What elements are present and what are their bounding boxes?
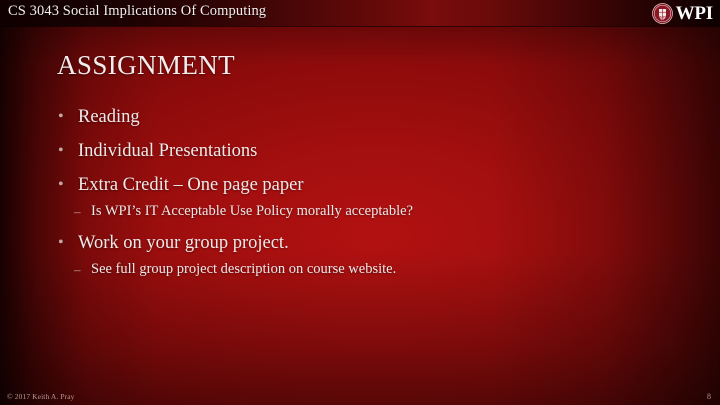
wpi-wordmark: WPI	[676, 4, 713, 23]
copyright-notice: © 2017 Keith A. Pray	[7, 392, 75, 401]
bullet-dot-icon: •	[55, 230, 78, 256]
wpi-logo: WPI WPI	[652, 1, 713, 25]
svg-text:WPI: WPI	[658, 15, 666, 19]
slide-body: • Reading • Individual Presentations • E…	[55, 104, 655, 288]
presentation-slide: CS 3043 Social Implications Of Computing…	[0, 0, 720, 405]
bullet-dot-icon: •	[55, 138, 78, 164]
list-item: • Reading	[55, 104, 655, 130]
list-item: • Work on your group project.	[55, 230, 655, 256]
sub-bullet-dash-icon: –	[74, 259, 91, 280]
slide-header-band: CS 3043 Social Implications Of Computing…	[0, 0, 720, 26]
sub-list-item-label: Is WPI’s IT Acceptable Use Policy morall…	[91, 201, 413, 222]
slide-page-number: 8	[707, 392, 711, 401]
bullet-dot-icon: •	[55, 172, 78, 198]
course-title: CS 3043 Social Implications Of Computing	[8, 3, 266, 20]
bullet-dot-icon: •	[55, 104, 78, 130]
page-title: ASSIGNMENT	[57, 50, 235, 80]
wpi-seal-icon: WPI	[652, 3, 673, 24]
bullet-group: • Extra Credit – One page paper – Is WPI…	[55, 172, 655, 222]
bullet-group: • Individual Presentations	[55, 138, 655, 164]
bullet-group: • Reading	[55, 104, 655, 130]
list-item-label: Work on your group project.	[78, 230, 289, 256]
list-item-label: Individual Presentations	[78, 138, 257, 164]
sub-bullet-dash-icon: –	[74, 201, 91, 222]
sub-list-item: – See full group project description on …	[74, 259, 655, 280]
list-item-label: Reading	[78, 104, 140, 130]
list-item: • Extra Credit – One page paper	[55, 172, 655, 198]
sub-list-item: – Is WPI’s IT Acceptable Use Policy mora…	[74, 201, 655, 222]
list-item-label: Extra Credit – One page paper	[78, 172, 304, 198]
list-item: • Individual Presentations	[55, 138, 655, 164]
bullet-group: • Work on your group project. – See full…	[55, 230, 655, 280]
sub-list-item-label: See full group project description on co…	[91, 259, 396, 280]
